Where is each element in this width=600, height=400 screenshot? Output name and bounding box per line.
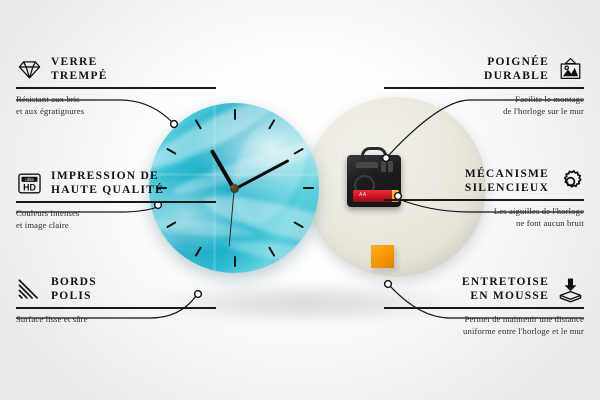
feature-description: Couleurs intenses et image claire xyxy=(16,207,216,231)
feature-title: IMPRESSION DE HAUTE QUALITÉ xyxy=(51,170,164,197)
feature-impression-haute-qualite: ultra HD IMPRESSION DE HAUTE QUALITÉ Cou… xyxy=(16,170,216,231)
clock-tick xyxy=(195,246,202,257)
feature-mecanisme-silencieux: MÉCANISME SILENCIEUX Les aiguilles de l'… xyxy=(384,168,584,229)
divider xyxy=(16,87,216,89)
foam-press-icon xyxy=(557,276,584,303)
svg-text:ultra: ultra xyxy=(25,177,34,182)
clock-tick xyxy=(234,109,236,120)
feature-description: Facilite le montage de l'horloge sur le … xyxy=(384,93,584,117)
ultra-hd-icon: ultra HD xyxy=(16,170,43,197)
clock-center-cap xyxy=(230,184,239,193)
feature-description: Permet de maintenir une distance uniform… xyxy=(384,313,584,337)
feature-description: Résistant aux bris et aux égratignures xyxy=(16,93,216,117)
diamond-icon xyxy=(16,56,43,83)
clock-tick xyxy=(234,256,236,267)
diagonal-lines-icon xyxy=(16,276,43,303)
divider xyxy=(16,201,216,203)
divider xyxy=(384,307,584,309)
divider xyxy=(16,307,216,309)
feature-title: MÉCANISME SILENCIEUX xyxy=(465,168,549,195)
feature-entretoise-en-mousse: ENTRETOISE EN MOUSSE Permet de maintenir… xyxy=(384,276,584,337)
clock-tick xyxy=(303,187,314,189)
foam-spacer xyxy=(371,245,394,268)
divider xyxy=(384,87,584,89)
feature-bords-polis: BORDS POLIS Surface lisse et sûre xyxy=(16,276,216,325)
divider xyxy=(384,199,584,201)
feature-poignee-durable: POIGNÉE DURABLE Facilite le montage de l… xyxy=(384,56,584,117)
feature-description: Surface lisse et sûre xyxy=(16,313,216,325)
picture-hanger-icon xyxy=(557,56,584,83)
feature-description: Les aiguilles de l'horloge ne font aucun… xyxy=(384,205,584,229)
feature-title: BORDS POLIS xyxy=(51,276,97,303)
mechanism-detail xyxy=(356,162,378,168)
battery-label: AA xyxy=(359,192,367,198)
feature-title: ENTRETOISE EN MOUSSE xyxy=(462,276,549,303)
feature-verre-trempe: VERRE TREMPÉ Résistant aux bris et aux é… xyxy=(16,56,216,117)
feature-title: VERRE TREMPÉ xyxy=(51,56,108,83)
infographic-canvas: AA xyxy=(0,0,600,400)
feature-title: POIGNÉE DURABLE xyxy=(484,56,549,83)
gear-icon xyxy=(557,168,584,195)
svg-text:HD: HD xyxy=(23,182,36,192)
